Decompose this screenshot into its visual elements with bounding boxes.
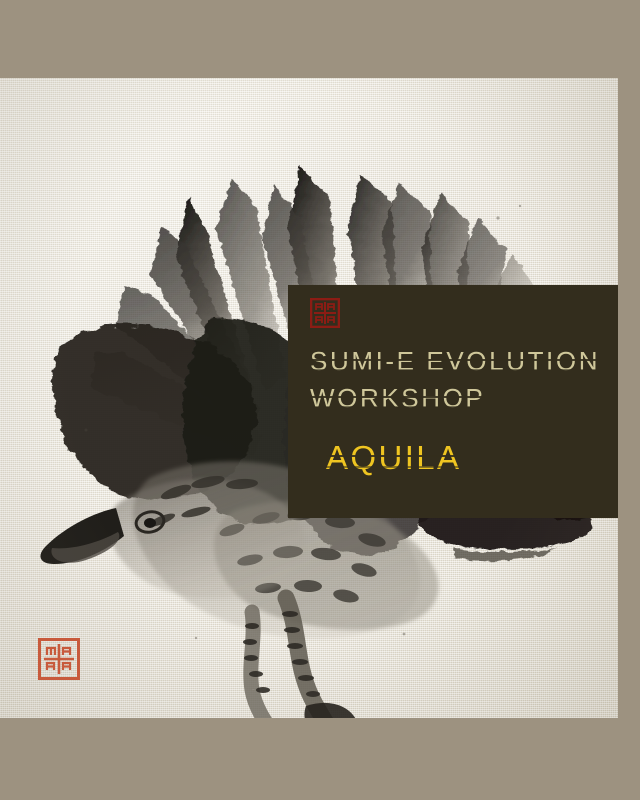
caption-text-block: SUMI-E EVOLUTION WORKSHOP AQUILA	[310, 343, 604, 477]
artist-seal-stamp-icon	[38, 638, 80, 680]
workshop-headline-line-2: WORKSHOP	[310, 380, 604, 417]
red-seal-stamp-icon	[310, 298, 340, 328]
headline-line-2-text: WORKSHOP	[310, 380, 485, 417]
workshop-headline-line-1: SUMI-E EVOLUTION	[310, 343, 604, 380]
headline-line-1-text: SUMI-E EVOLUTION	[310, 343, 600, 380]
caption-panel: SUMI-E EVOLUTION WORKSHOP AQUILA	[288, 285, 618, 518]
subject-title: AQUILA	[326, 439, 604, 477]
artwork-paper: SUMI-E EVOLUTION WORKSHOP AQUILA	[0, 78, 618, 718]
subject-title-text: AQUILA	[326, 439, 461, 477]
poster-canvas: SUMI-E EVOLUTION WORKSHOP AQUILA	[0, 0, 640, 800]
